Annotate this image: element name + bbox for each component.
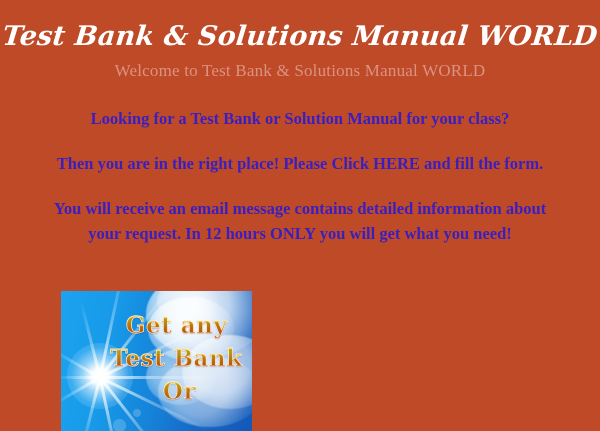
promo-line-1: Get any <box>101 309 252 342</box>
lens-flare-dot <box>113 419 126 431</box>
delivery-info-paragraph: You will receive an email message contai… <box>48 196 552 246</box>
promo-line-3: Or <box>101 375 252 408</box>
promo-line-2: Test Bank <box>101 342 252 375</box>
promo-banner-image[interactable]: Get any Test Bank Or <box>61 291 252 431</box>
intro-paragraph: Looking for a Test Bank or Solution Manu… <box>48 106 552 131</box>
page-title: Test Bank & Solutions Manual WORLD <box>0 22 600 52</box>
site-header: Test Bank & Solutions Manual WORLD Welco… <box>0 0 600 82</box>
lens-flare-dot <box>133 409 141 417</box>
site-tagline: Welcome to Test Bank & Solutions Manual … <box>0 60 600 82</box>
promo-banner-text: Get any Test Bank Or <box>61 309 252 408</box>
page-root: Test Bank & Solutions Manual WORLD Welco… <box>0 0 600 400</box>
call-to-action-paragraph: Then you are in the right place! Please … <box>48 151 552 176</box>
main-content: Looking for a Test Bank or Solution Manu… <box>0 106 600 246</box>
